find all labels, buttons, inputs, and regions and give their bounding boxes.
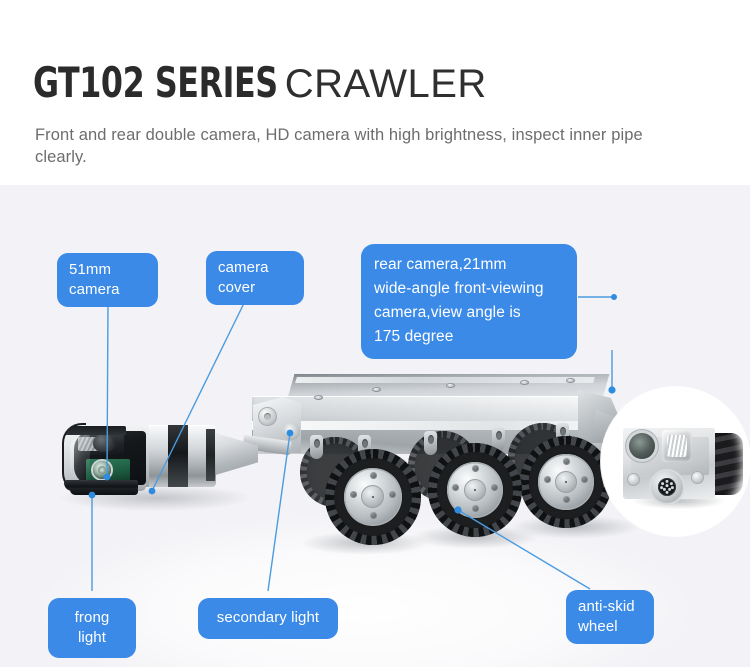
leader-line-51mm-camera: [107, 302, 108, 477]
callout-front-light[interactable]: frong light: [48, 598, 136, 658]
leader-dot-rear-camera: [608, 386, 615, 393]
page-subtitle: Front and rear double camera, HD camera …: [35, 124, 695, 168]
leader-dot-secondary-light: [287, 430, 294, 437]
connector-pins-icon: [658, 478, 676, 496]
callout-secondary-light[interactable]: secondary light: [198, 598, 338, 639]
rear-camera-detail-inset: [601, 387, 750, 536]
callout-camera-cover[interactable]: camera cover: [206, 251, 304, 305]
leader-line-secondary-light: [268, 433, 290, 591]
page-title: GT102 SERIES CRAWLER: [33, 62, 487, 104]
leader-dot-anti-skid-wheel: [454, 506, 461, 513]
callout-rear-camera[interactable]: rear camera,21mm wide-angle front-viewin…: [361, 244, 577, 359]
title-product-word: CRAWLER: [285, 64, 487, 104]
detail-lens: [629, 433, 655, 459]
callout-camera-51mm[interactable]: 51mm camera: [57, 253, 158, 307]
leader-dot-51mm-camera: [104, 474, 111, 481]
detail-connector-pins: [658, 478, 676, 496]
leader-dot-camera-cover: [149, 488, 156, 495]
leader-dot-inset: [611, 294, 617, 300]
leader-line-anti-skid-wheel: [458, 510, 590, 589]
detail-mount-hole: [627, 473, 640, 486]
leader-dot-front-light: [89, 492, 96, 499]
title-model: GT102 SERIES: [33, 62, 278, 104]
detail-mount-hole: [691, 471, 704, 484]
detail-led-light: [662, 430, 692, 462]
header-section: GT102 SERIES CRAWLER Front and rear doub…: [0, 0, 750, 185]
leader-line-camera-cover: [152, 295, 248, 491]
product-diagram-panel: 51mm camera camera cover rear camera,21m…: [0, 185, 750, 667]
rear-camera-detail-photo: [615, 419, 743, 511]
callout-anti-skid-wheel[interactable]: anti-skid wheel: [566, 590, 654, 644]
